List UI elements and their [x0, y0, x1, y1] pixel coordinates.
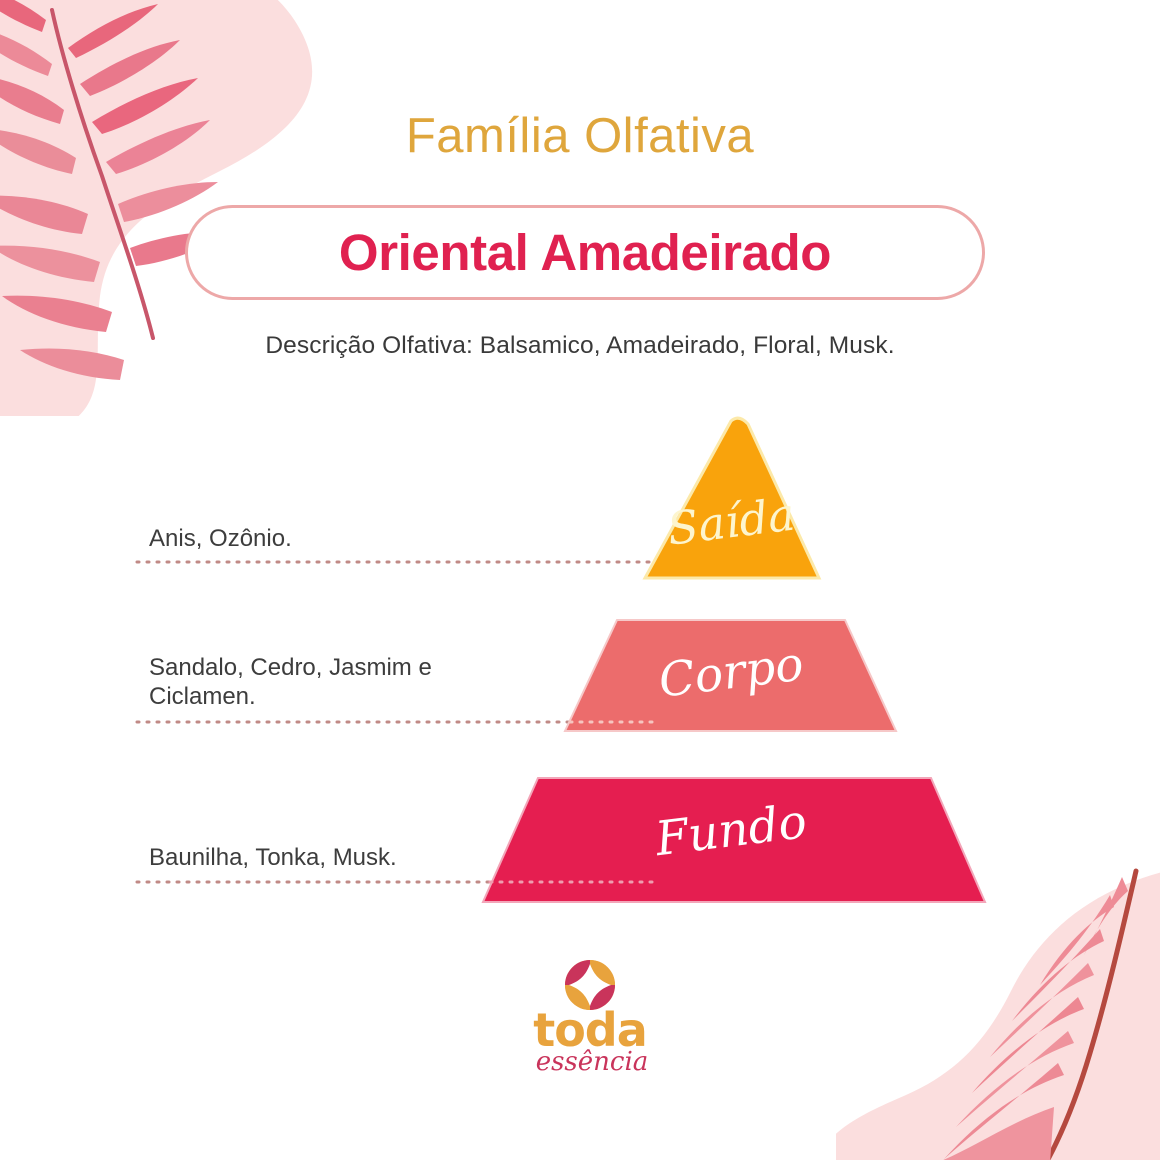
poster-canvas: Família Olfativa Oriental Amadeirado Des…: [0, 0, 1160, 1160]
notes-saida: Anis, Ozônio.: [149, 524, 292, 553]
notes-corpo: Sandalo, Cedro, Jasmim e Ciclamen.: [149, 653, 432, 712]
logo-word-essencia: essência: [536, 1047, 649, 1077]
brand-logo[interactable]: toda essência: [510, 958, 670, 1078]
notes-fundo: Baunilha, Tonka, Musk.: [149, 843, 397, 872]
